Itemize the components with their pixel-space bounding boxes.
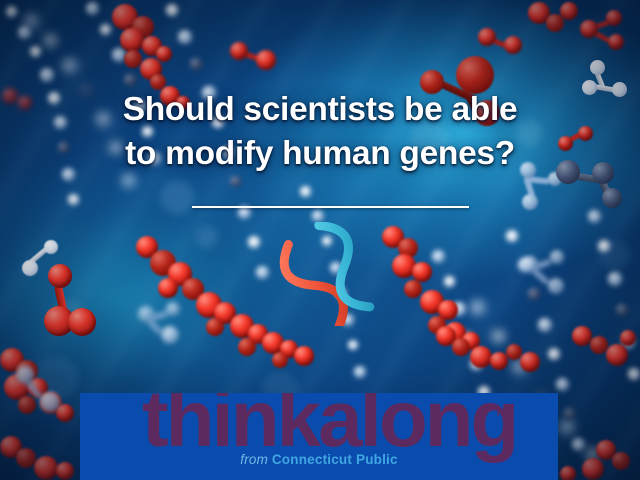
- tagline-organization: Connecticut Public: [272, 452, 398, 467]
- trademark-icon: TM: [495, 407, 511, 419]
- thinkalong-logo-text: thinkalong: [142, 393, 516, 459]
- horizontal-rule: [192, 206, 469, 208]
- thinkalong-banner: thinkalong TM from Connecticut Public: [80, 393, 558, 480]
- headline-line-2: to modify human genes?: [0, 132, 640, 176]
- title-card: Should scientists be able to modify huma…: [0, 0, 640, 480]
- banner-tagline: from Connecticut Public: [80, 452, 558, 468]
- tagline-from: from: [240, 452, 268, 467]
- dna-double-helix-icon: [276, 222, 380, 326]
- headline-line-1: Should scientists be able: [0, 88, 640, 132]
- headline-block: Should scientists be able to modify huma…: [0, 88, 640, 176]
